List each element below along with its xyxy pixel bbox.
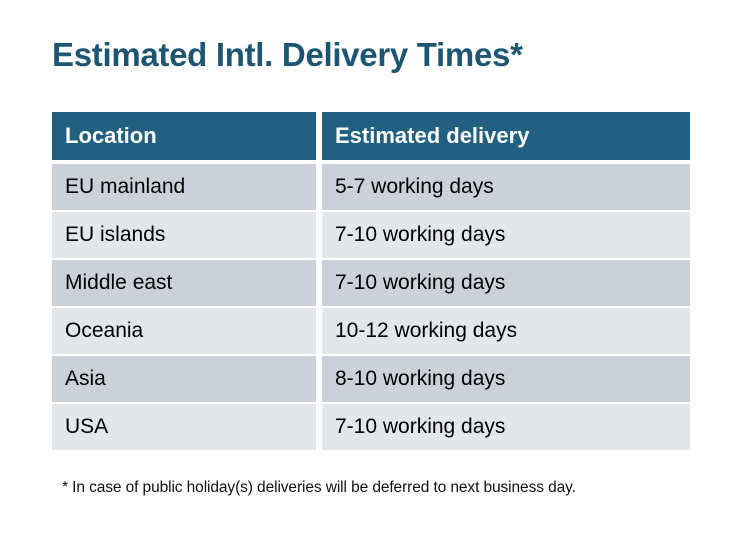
delivery-times-table: Location Estimated delivery EU mainland …	[52, 112, 690, 452]
column-header-location: Location	[52, 112, 316, 160]
table-row: EU islands 7-10 working days	[52, 212, 690, 258]
cell-estimated-delivery: 7-10 working days	[322, 260, 690, 306]
cell-estimated-delivery: 7-10 working days	[322, 212, 690, 258]
table-row: USA 7-10 working days	[52, 404, 690, 450]
cell-estimated-delivery: 7-10 working days	[322, 404, 690, 450]
table-row: EU mainland 5-7 working days	[52, 164, 690, 210]
cell-location: Asia	[52, 356, 316, 402]
cell-estimated-delivery: 10-12 working days	[322, 308, 690, 354]
cell-location: EU islands	[52, 212, 316, 258]
cell-location: Oceania	[52, 308, 316, 354]
delivery-times-page: Estimated Intl. Delivery Times* Location…	[0, 0, 745, 536]
cell-estimated-delivery: 5-7 working days	[322, 164, 690, 210]
cell-location: Middle east	[52, 260, 316, 306]
column-header-estimated-delivery: Estimated delivery	[322, 112, 690, 160]
cell-estimated-delivery: 8-10 working days	[322, 356, 690, 402]
page-title: Estimated Intl. Delivery Times*	[52, 36, 523, 74]
cell-location: USA	[52, 404, 316, 450]
table-row: Asia 8-10 working days	[52, 356, 690, 402]
cell-location: EU mainland	[52, 164, 316, 210]
footnote: * In case of public holiday(s) deliverie…	[62, 479, 576, 497]
table-row: Oceania 10-12 working days	[52, 308, 690, 354]
table-row: Middle east 7-10 working days	[52, 260, 690, 306]
table-header-row: Location Estimated delivery	[52, 112, 690, 160]
